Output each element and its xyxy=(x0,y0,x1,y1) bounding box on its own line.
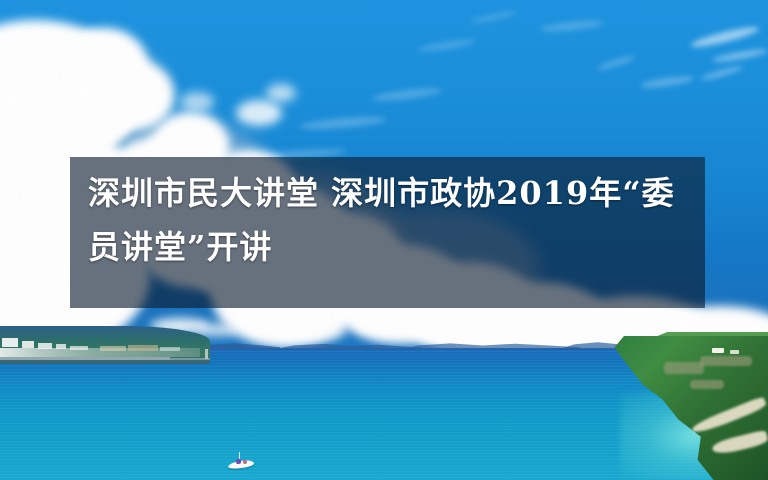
page-title: 深圳市民大讲堂 深圳市政协2019年“委员讲堂”开讲 xyxy=(88,166,688,274)
screenshot-canvas: 深圳市民大讲堂 深圳市政协2019年“委员讲堂”开讲 xyxy=(0,0,768,480)
